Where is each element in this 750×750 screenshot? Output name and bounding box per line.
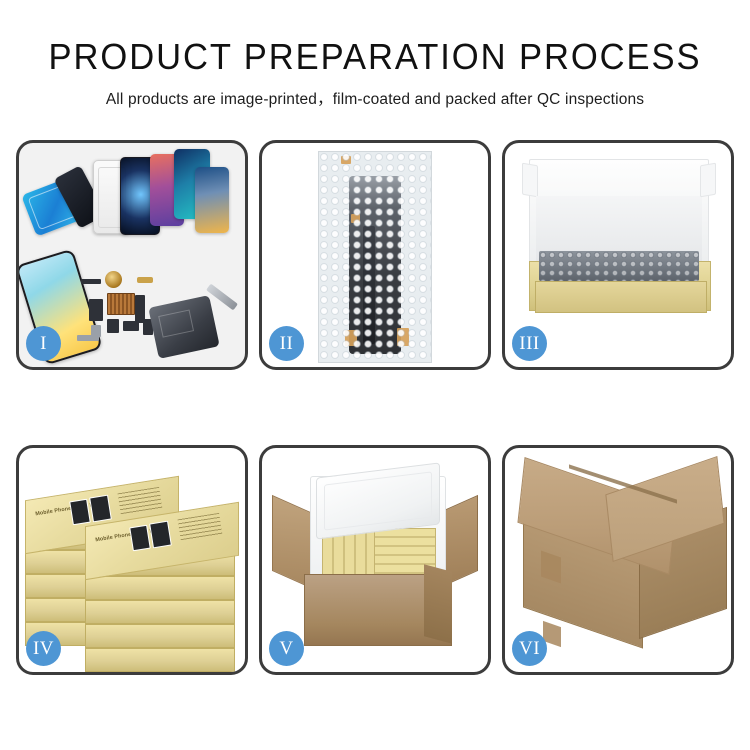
part-vibrator-icon [123,321,139,331]
carton-side-wall-icon [424,564,452,644]
step-card-6: VI [502,445,734,675]
speaker-coil-icon [105,271,122,288]
part-connector-icon [81,279,101,284]
step-badge-4: IV [26,631,61,666]
step-card-3: III [502,140,734,370]
page-title: PRODUCT PREPARATION PROCESS [15,38,735,76]
page-subtitle: All products are image-printed，film-coat… [0,87,750,109]
part-bracket-icon [89,299,103,321]
retail-box-window-right [149,521,172,549]
bubble-wrapped-contents-icon [539,251,699,281]
process-steps-grid: I II III [16,140,734,675]
step-badge-3: III [512,326,547,361]
retail-box-window-left [129,525,151,552]
retail-box-layer [85,600,235,624]
step-badge-6: VI [512,631,547,666]
retail-box-stack-icon: Mobile Phone Spare Parts Mobile Phone Sp… [23,466,245,662]
phone-gold-icon [195,167,229,233]
step-badge-5: V [269,631,304,666]
retail-box-layer [85,648,235,672]
step-card-2: II [259,140,491,370]
bubble-wrap-pouch-icon [318,151,432,363]
step-badge-1: I [26,326,61,361]
part-screw-set-icon [77,335,99,341]
retail-box-layer [85,576,235,600]
retail-box-layer [85,624,235,648]
step-card-1: I [16,140,248,370]
retail-box-window-left [69,499,91,526]
phone-back-housing-icon [148,295,219,359]
page-header: PRODUCT PREPARATION PROCESS All products… [0,0,750,109]
bubble-texture-icon [319,152,431,362]
step-card-4: Mobile Phone Spare Parts Mobile Phone Sp… [16,445,248,675]
step-card-5: V [259,445,491,675]
part-gold-strip-icon [137,277,153,283]
step-badge-2: II [269,326,304,361]
part-button-icon [107,319,119,333]
retail-box-window-right [89,495,112,523]
logic-board-chip-icon [107,293,135,315]
kraft-box-front-icon [535,281,707,313]
